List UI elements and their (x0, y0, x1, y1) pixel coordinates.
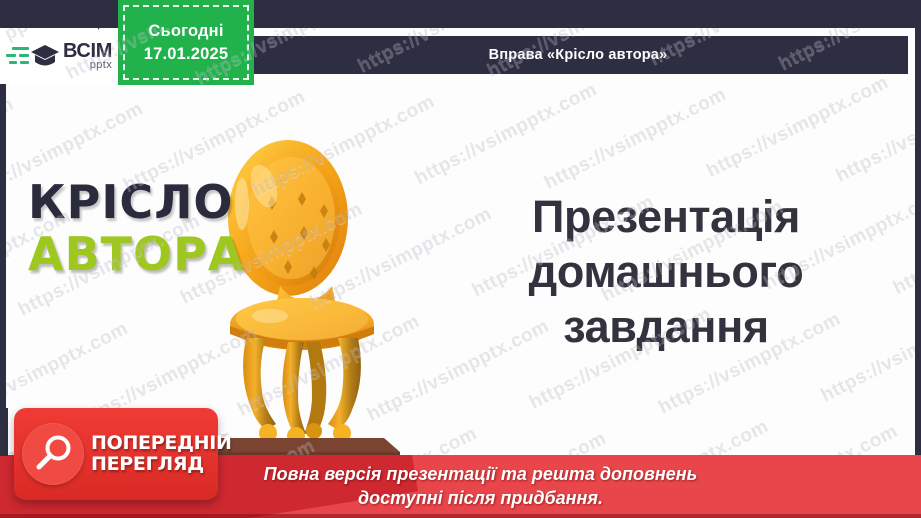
preview-badge[interactable]: ПОПЕРЕДНІЙ ПЕРЕГЛЯД (14, 408, 218, 500)
headline-line-2: АВТОРА (28, 232, 244, 276)
left-edge-strip (0, 408, 8, 456)
date-badge-label: Сьогодні (148, 22, 223, 41)
magnifier-icon (22, 423, 84, 485)
date-badge-value: 17.01.2025 (144, 45, 229, 64)
presentation-slide: КРІСЛО АВТОРА Презентація домашнього зав… (0, 0, 921, 518)
headline-block: КРІСЛО АВТОРА (28, 180, 244, 276)
main-title-line-1: Презентація (436, 190, 896, 245)
main-title-line-2: домашнього (436, 245, 896, 300)
preview-badge-line-1: ПОПЕРЕДНІЙ (91, 433, 232, 454)
speed-lines-icon (6, 41, 32, 71)
purchase-banner-text: Повна версія презентації та решта доповн… (224, 463, 698, 509)
main-title: Презентація домашнього завдання (436, 190, 896, 355)
preview-badge-text: ПОПЕРЕДНІЙ ПЕРЕГЛЯД (91, 433, 232, 474)
purchase-banner-line-2: доступні після придбання. (264, 487, 698, 510)
purchase-banner-line-1: Повна версія презентації та решта доповн… (264, 463, 698, 486)
main-title-line-3: завдання (436, 300, 896, 355)
header-title: Вправа «Крісло автора» (489, 47, 668, 63)
logo-name: ВСІМ (63, 41, 112, 61)
brand-logo[interactable]: ВСІМ pptx (0, 28, 112, 84)
date-badge: Сьогодні 17.01.2025 (118, 0, 254, 85)
logo-wordmark: ВСІМ pptx (63, 41, 112, 71)
preview-badge-line-2: ПЕРЕГЛЯД (91, 454, 232, 475)
date-badge-fold (98, 0, 120, 30)
headline-line-1: КРІСЛО (28, 180, 244, 224)
header-bar: Вправа «Крісло автора» (248, 36, 908, 74)
graduation-cap-icon (30, 40, 60, 72)
